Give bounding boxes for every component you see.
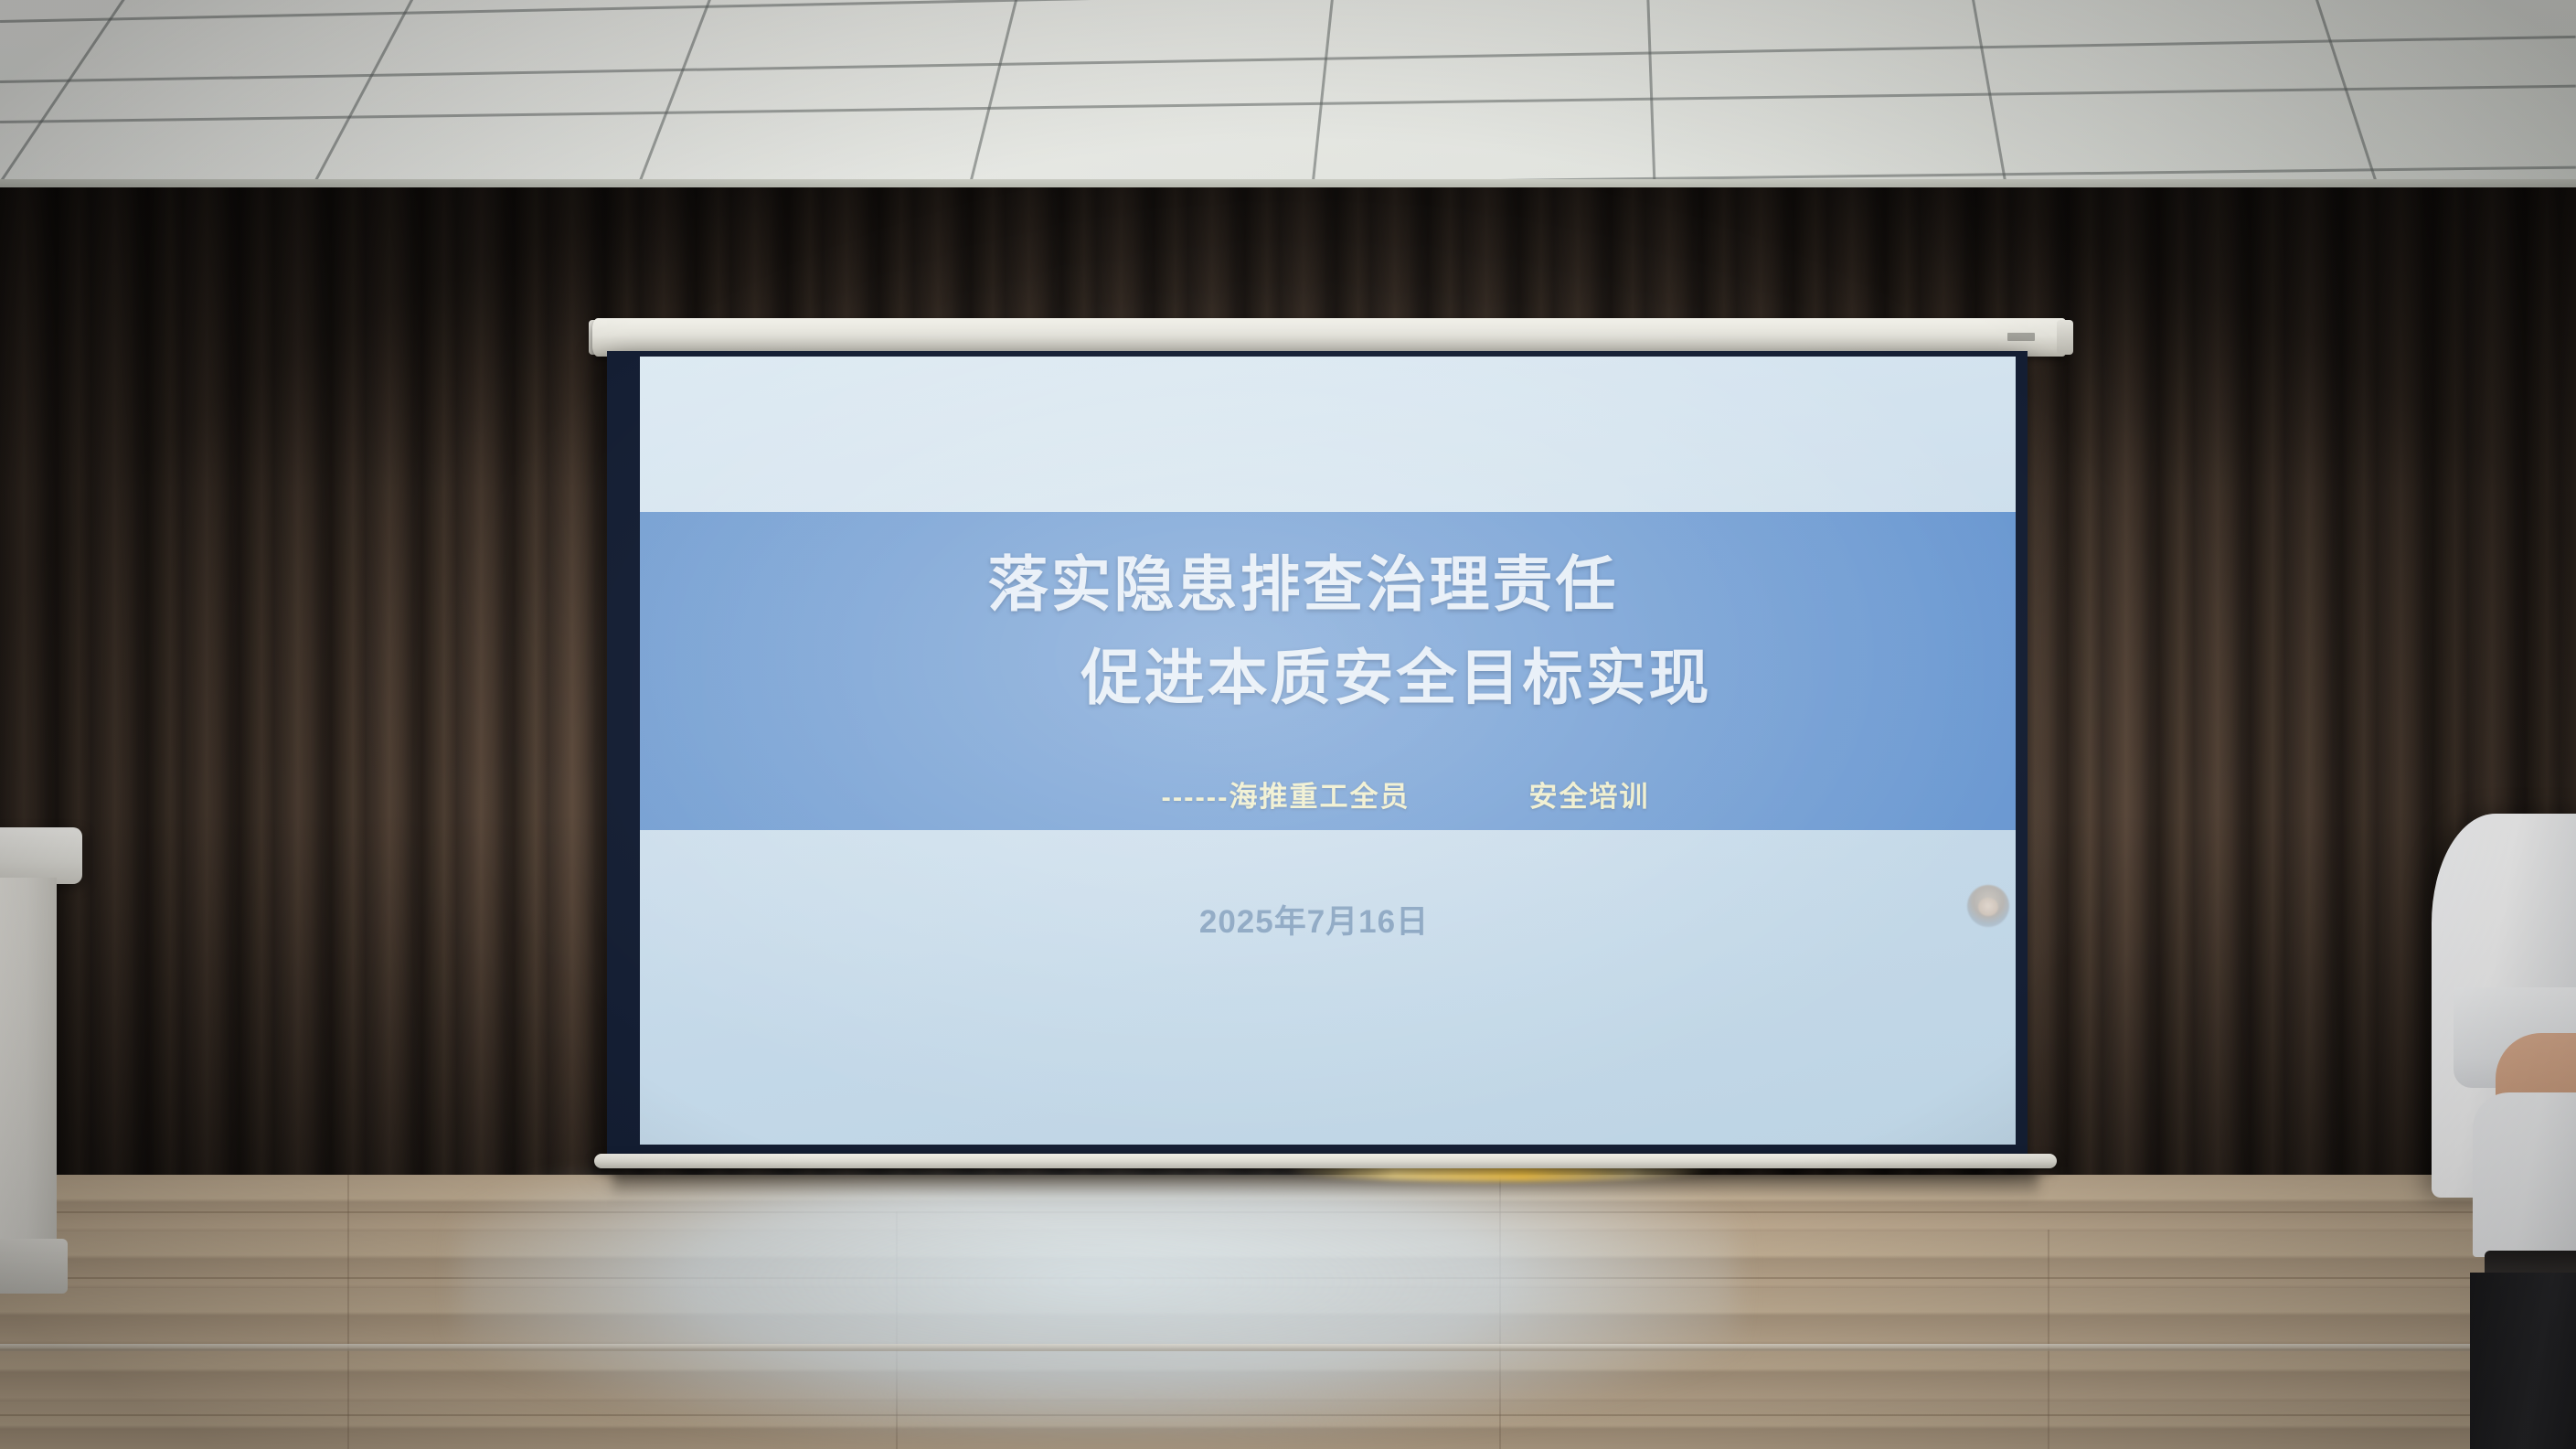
housing-brand-logo — [2007, 333, 2035, 341]
podium-column — [0, 878, 57, 1243]
presenter-avatar-icon — [1967, 885, 2009, 927]
room-photo-scene: 落实隐患排查治理责任 促进本质安全目标实现 ------海推重工全员 安全培训 … — [0, 0, 2576, 1449]
slide-date: 2025年7月16日 — [640, 896, 2016, 943]
slide-title-line-1: 落实隐患排查治理责任 — [640, 536, 2016, 623]
floor-plank-joint — [2048, 1230, 2049, 1449]
person-trousers — [2470, 1273, 2576, 1449]
screen-roller-end-cap-right — [2057, 320, 2073, 355]
screen-weight-bar[interactable] — [594, 1154, 2057, 1168]
podium-top-surface — [0, 827, 82, 884]
stage-front-edge — [0, 1344, 2576, 1351]
projector-light-spill — [457, 1179, 1737, 1435]
slide-title-line-2: 促进本质安全目标实现 — [640, 629, 2016, 717]
slide-subtitle-left: ------海推重工全员 — [1162, 773, 1410, 815]
person-shirt-hem — [2473, 1092, 2576, 1257]
podium-base — [0, 1239, 68, 1294]
floor-plank-joint — [347, 1175, 349, 1449]
slide-subtitle-right: 安全培训 — [1528, 773, 1649, 815]
slide-subtitle-row: ------海推重工全员 安全培训 — [640, 773, 2016, 815]
projection-surface[interactable]: 落实隐患排查治理责任 促进本质安全目标实现 ------海推重工全员 安全培训 … — [640, 357, 2016, 1145]
